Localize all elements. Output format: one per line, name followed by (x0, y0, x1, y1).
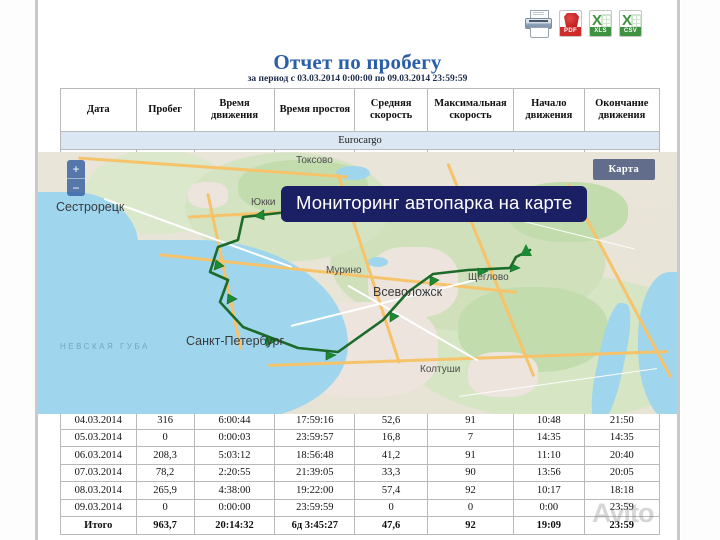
cell-total-start: 19:09 (514, 517, 585, 535)
cell-drive-time: 0:00:03 (194, 429, 275, 447)
map-type-button[interactable]: Карта (593, 159, 655, 180)
cell-idle-time: 18:56:48 (275, 447, 355, 465)
cell-date: 05.03.2014 (61, 429, 137, 447)
cell-max-speed: 90 (427, 464, 513, 482)
cell-date: 06.03.2014 (61, 447, 137, 465)
cell-idle-time: 23:59:59 (275, 499, 355, 517)
cell-idle-time: 17:59:16 (275, 412, 355, 430)
col-header-avg-speed: Средняя скорость (355, 89, 428, 132)
table-row: 05.03.2014 0 0:00:03 23:59:57 16,8 7 14:… (61, 429, 660, 447)
report-subtitle: за период с 03.03.2014 0:00:00 по 09.03.… (38, 74, 677, 84)
headline-banner: Мониторинг автопарка на карте (281, 186, 587, 222)
cell-mileage: 265,9 (136, 482, 194, 500)
map-zoom-control[interactable]: + − (67, 160, 85, 196)
cell-idle-time: 23:59:57 (275, 429, 355, 447)
table-row: 07.03.2014 78,2 2:20:55 21:39:05 33,3 90… (61, 464, 660, 482)
cell-max-speed: 0 (427, 499, 513, 517)
cell-total-max-speed: 92 (427, 517, 513, 535)
map-label-toksovo: Токсово (296, 155, 333, 166)
cell-date: 04.03.2014 (61, 412, 137, 430)
cell-start: 0:00 (514, 499, 585, 517)
cell-idle-time: 21:39:05 (275, 464, 355, 482)
cell-drive-time: 0:00:00 (194, 499, 275, 517)
cell-end: 21:50 (584, 412, 659, 430)
cell-avg-speed: 33,3 (355, 464, 428, 482)
map-label-saint-petersburg: Санкт-Петербург (186, 334, 284, 348)
avito-watermark: Avito (592, 498, 654, 529)
cell-date: 08.03.2014 (61, 482, 137, 500)
cell-end: 14:35 (584, 429, 659, 447)
cell-end: 18:18 (584, 482, 659, 500)
table-row: 04.03.2014 316 6:00:44 17:59:16 52,6 91 … (61, 412, 660, 430)
cell-total-mileage: 963,7 (136, 517, 194, 535)
panel-border-right (677, 0, 680, 540)
cell-avg-speed: 16,8 (355, 429, 428, 447)
cell-avg-speed: 41,2 (355, 447, 428, 465)
cell-total-avg-speed: 47,6 (355, 517, 428, 535)
cell-start: 11:10 (514, 447, 585, 465)
map-label-sestroretsk: Сестрорецк (56, 200, 124, 214)
cell-total-idle-time: 6д 3:45:27 (275, 517, 355, 535)
page-margin-left (0, 0, 38, 540)
page-margin-right (682, 0, 720, 540)
print-icon[interactable] (525, 10, 552, 37)
table-row: 09.03.2014 0 0:00:00 23:59:59 0 0 0:00 2… (61, 499, 660, 517)
map-label-koltushi: Колтуши (420, 364, 460, 375)
zoom-out-button[interactable]: − (67, 179, 85, 196)
col-header-max-speed: Максимальная скорость (427, 89, 513, 132)
cell-avg-speed: 57,4 (355, 482, 428, 500)
table-header-row: Дата Пробег Время движения Время простоя… (61, 89, 660, 132)
col-header-drive-time: Время движения (194, 89, 275, 132)
col-header-start: Начало движения (514, 89, 585, 132)
cell-mileage: 0 (136, 499, 194, 517)
cell-max-speed: 91 (427, 412, 513, 430)
cell-start: 14:35 (514, 429, 585, 447)
cell-total-drive-time: 20:14:32 (194, 517, 275, 535)
cell-drive-time: 6:00:44 (194, 412, 275, 430)
cell-drive-time: 4:38:00 (194, 482, 275, 500)
cell-end: 20:05 (584, 464, 659, 482)
cell-total-label: Итого (61, 517, 137, 535)
pdf-label: PDF (560, 27, 581, 36)
cell-mileage: 208,3 (136, 447, 194, 465)
map-label-nevskaya-guba: НЕВСКАЯ ГУБА (60, 342, 150, 351)
map-label-murino: Мурино (326, 265, 362, 276)
map-label-vsevolozhsk: Всеволожск (373, 285, 442, 299)
export-toolbar: PDF X XLS X CSV (525, 10, 642, 37)
cell-date: 09.03.2014 (61, 499, 137, 517)
col-header-date: Дата (61, 89, 137, 132)
cell-mileage: 78,2 (136, 464, 194, 482)
col-header-idle-time: Время простоя (275, 89, 355, 132)
map-label-sheglovo: Щеглово (468, 272, 509, 283)
cell-start: 10:17 (514, 482, 585, 500)
table-total-row: Итого 963,7 20:14:32 6д 3:45:27 47,6 92 … (61, 517, 660, 535)
cell-end: 20:40 (584, 447, 659, 465)
csv-icon[interactable]: X CSV (619, 10, 642, 37)
group-label: Eurocargo (61, 132, 660, 150)
map-label-yukki: Юкки (251, 197, 275, 208)
cell-start: 13:56 (514, 464, 585, 482)
col-header-end: Окончание движения (584, 89, 659, 132)
cell-drive-time: 5:03:12 (194, 447, 275, 465)
cell-mileage: 316 (136, 412, 194, 430)
cell-date: 07.03.2014 (61, 464, 137, 482)
xls-icon[interactable]: X XLS (589, 10, 612, 37)
report-title: Отчет по пробегу (38, 50, 677, 75)
xls-label: XLS (590, 27, 611, 36)
group-row-eurocargo: Eurocargo (61, 132, 660, 150)
cell-start: 10:48 (514, 412, 585, 430)
csv-label: CSV (620, 27, 641, 36)
zoom-in-button[interactable]: + (67, 160, 85, 178)
pdf-icon[interactable]: PDF (559, 10, 582, 37)
table-row: 06.03.2014 208,3 5:03:12 18:56:48 41,2 9… (61, 447, 660, 465)
table-row: 08.03.2014 265,9 4:38:00 19:22:00 57,4 9… (61, 482, 660, 500)
screenshot-root: PDF X XLS X CSV Отчет по пробегу за пери… (0, 0, 720, 540)
cell-max-speed: 7 (427, 429, 513, 447)
col-header-mileage: Пробег (136, 89, 194, 132)
cell-max-speed: 92 (427, 482, 513, 500)
cell-avg-speed: 52,6 (355, 412, 428, 430)
cell-max-speed: 91 (427, 447, 513, 465)
cell-avg-speed: 0 (355, 499, 428, 517)
cell-mileage: 0 (136, 429, 194, 447)
cell-drive-time: 2:20:55 (194, 464, 275, 482)
cell-idle-time: 19:22:00 (275, 482, 355, 500)
